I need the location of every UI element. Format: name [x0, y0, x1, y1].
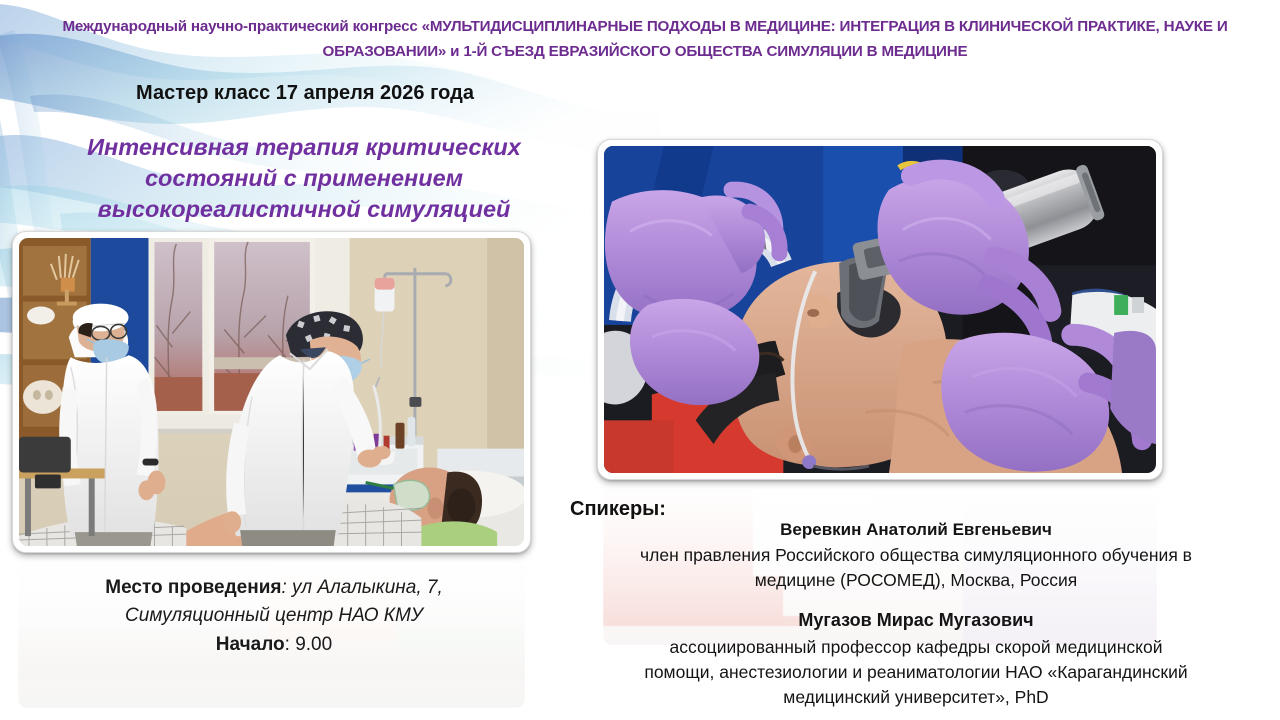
venue-center-line: Симуляционный центр НАО КМУ: [20, 602, 528, 630]
venue-value: : ул Алалыкина, 7,: [281, 577, 442, 598]
speaker-1-desc-line-1: член правления Российского общества симу…: [566, 543, 1266, 568]
speaker-2-name: Мугазов Мирас Мугазович: [566, 605, 1266, 635]
start-value: : 9.00: [285, 634, 333, 655]
intubation-manikin-photo: [597, 139, 1163, 480]
speaker-2-desc-line-3: медицинский университет», PhD: [566, 685, 1266, 710]
speakers-separator: [566, 593, 1266, 605]
masterclass-date: Мастер класс 17 апреля 2026 года: [60, 82, 550, 105]
presentation-slide: Международный научно-практический конгре…: [0, 0, 1280, 720]
congress-title: Международный научно-практический конгре…: [40, 14, 1250, 64]
venue-label: Место проведения: [105, 577, 281, 598]
speakers-block: Веревкин Анатолий Евгеньевич член правле…: [566, 516, 1266, 710]
speaker-1-desc-line-2: медицине (РОСОМЕД), Москва, Россия: [566, 568, 1266, 593]
speaker-2-desc-line-1: ассоциированный профессор кафедры скорой…: [566, 635, 1266, 660]
simulation-training-room-photo: [12, 231, 531, 553]
start-label: Начало: [216, 634, 285, 655]
speaker-1-name: Веревкин Анатолий Евгеньевич: [566, 516, 1266, 543]
venue-block: Место проведения: ул Алалыкина, 7, Симул…: [20, 574, 528, 660]
venue-address-line: Место проведения: ул Алалыкина, 7,: [20, 574, 528, 602]
start-time-line: Начало: 9.00: [20, 630, 528, 660]
page-title: Интенсивная терапия критических состояни…: [44, 132, 564, 225]
speaker-2-desc-line-2: помощи, анестезиологии и реаниматологии …: [566, 660, 1266, 685]
